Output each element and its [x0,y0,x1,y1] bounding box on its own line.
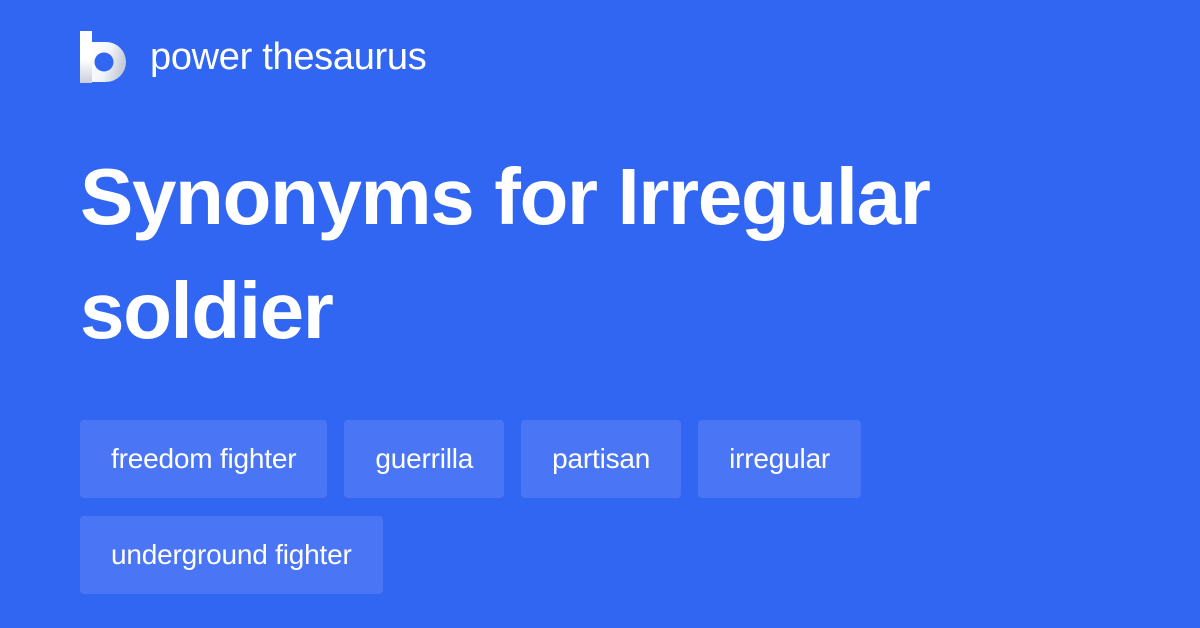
synonym-chip[interactable]: partisan [521,420,681,498]
synonym-chip-list: freedom fighter guerrilla partisan irreg… [80,420,1120,594]
power-thesaurus-b-logo-icon [80,31,126,83]
synonym-chip[interactable]: freedom fighter [80,420,327,498]
synonyms-card: power thesaurus Synonyms for Irregular s… [0,0,1200,628]
brand-header[interactable]: power thesaurus [80,28,426,86]
synonym-chip[interactable]: irregular [698,420,861,498]
brand-name: power thesaurus [150,31,426,83]
synonym-chip[interactable]: underground fighter [80,516,383,594]
page-title: Synonyms for Irregular soldier [80,140,1060,368]
synonym-chip[interactable]: guerrilla [344,420,504,498]
